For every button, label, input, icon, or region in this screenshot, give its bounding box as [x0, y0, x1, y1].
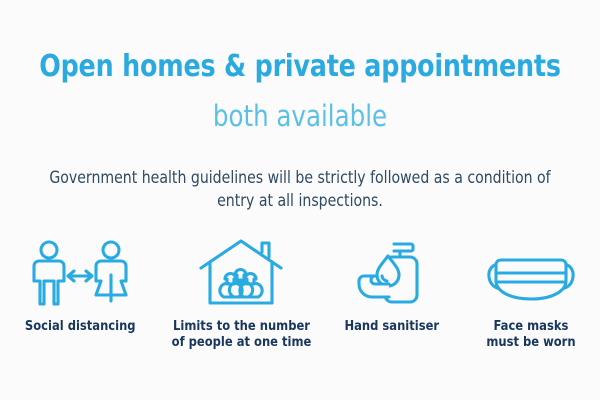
safety-measures-row: Social distancing	[0, 238, 600, 363]
subheadline: both available	[18, 100, 582, 133]
measure-hand-sanitiser: Hand sanitiser	[322, 238, 462, 334]
hand-sanitiser-icon	[353, 238, 431, 306]
measure-social-distancing: Social distancing	[0, 238, 160, 334]
measure-caption: Limits to the number of people at one ti…	[171, 318, 311, 350]
covid-safety-poster: Open homes & private appointments both a…	[0, 0, 600, 400]
measure-caption: Hand sanitiser	[345, 318, 440, 334]
body-text: Government health guidelines will be str…	[44, 166, 557, 212]
social-distancing-icon	[28, 238, 132, 306]
headline: Open homes & private appointments	[18, 50, 582, 84]
measure-caption: Social distancing	[25, 318, 136, 334]
measure-face-mask: Face masks must be worn	[462, 238, 600, 350]
house-with-people-icon	[198, 238, 284, 306]
face-mask-icon	[484, 238, 578, 306]
measure-caption: Face masks must be worn	[486, 318, 575, 350]
measure-occupancy-limit: Limits to the number of people at one ti…	[160, 238, 322, 350]
